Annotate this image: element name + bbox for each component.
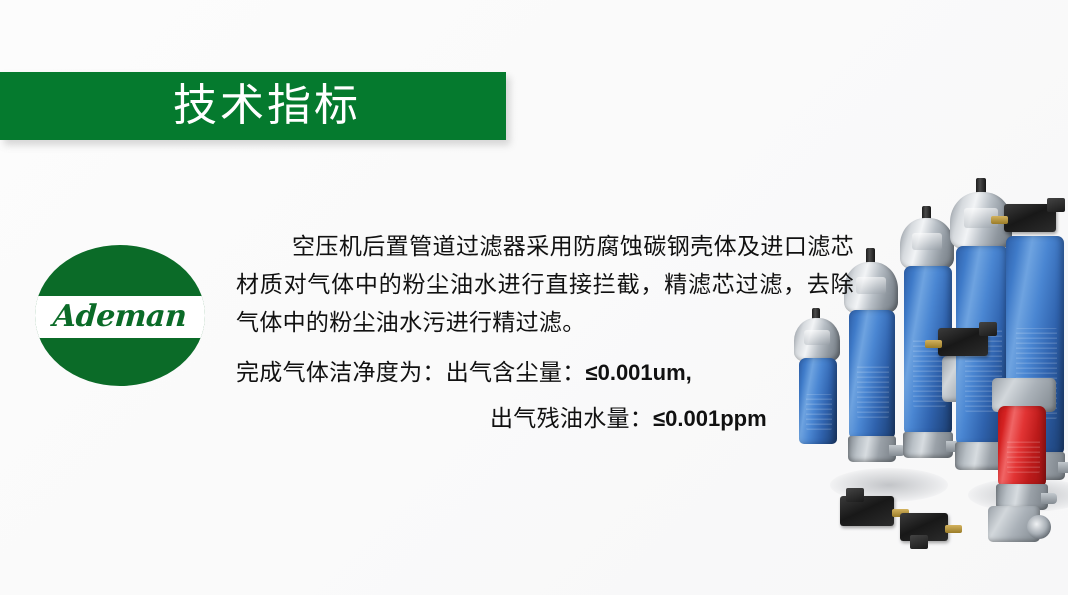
connector-tab-icon — [910, 535, 928, 549]
brass-stem-icon — [991, 216, 1008, 224]
spec-row-dust: 完成气体洁净度为：出气含尘量：≤0.001um, — [236, 354, 854, 392]
spec-dust-value: ≤0.001um, — [586, 360, 692, 385]
solenoid-valve — [938, 328, 988, 356]
slide-canvas: 技术指标 Ademan 空压机后置管道过滤器采用防腐蚀碳钢壳体及进口滤芯材质对气… — [0, 0, 1068, 595]
brand-logo: Ademan — [35, 245, 205, 386]
brass-stem-icon — [925, 340, 942, 348]
solenoid-valve — [1004, 204, 1056, 232]
description-line-3: 体中的粉尘油水污进行精过滤。 — [259, 310, 585, 335]
description-line-1: 空压机后置管道过滤器采用防腐蚀碳钢壳体及进口滤芯 — [292, 234, 854, 259]
logo-band: Ademan — [35, 296, 205, 338]
spec-oil-label: 出气残油水量： — [490, 406, 653, 431]
page-title: 技术指标 — [173, 84, 361, 128]
spec-oil-value: ≤0.001ppm — [653, 406, 767, 431]
filter-canister-red — [998, 406, 1046, 486]
spec-intro-label: 完成气体洁净度为： — [236, 360, 446, 385]
title-banner: 技术指标 — [0, 72, 506, 140]
spec-dust-label: 出气含尘量： — [446, 360, 586, 385]
connector-tab-icon — [979, 322, 997, 336]
loose-solenoid-valve-2 — [900, 513, 948, 541]
connector-tab-icon — [1047, 198, 1065, 212]
body-copy: 空压机后置管道过滤器采用防腐蚀碳钢壳体及进口滤芯材质对气体中的粉尘油水进行直接拦… — [236, 228, 854, 438]
description-paragraph: 空压机后置管道过滤器采用防腐蚀碳钢壳体及进口滤芯材质对气体中的粉尘油水进行直接拦… — [236, 228, 854, 342]
spec-row-oil: 出气残油水量：≤0.001ppm — [236, 400, 854, 438]
connector-tab-icon — [846, 488, 864, 502]
loose-solenoid-valve-1 — [840, 496, 894, 526]
logo-wordmark: Ademan — [52, 299, 188, 334]
outlet-valve-body — [988, 506, 1040, 542]
brass-stem-icon — [945, 525, 962, 533]
filter-unit-red — [982, 378, 1066, 528]
